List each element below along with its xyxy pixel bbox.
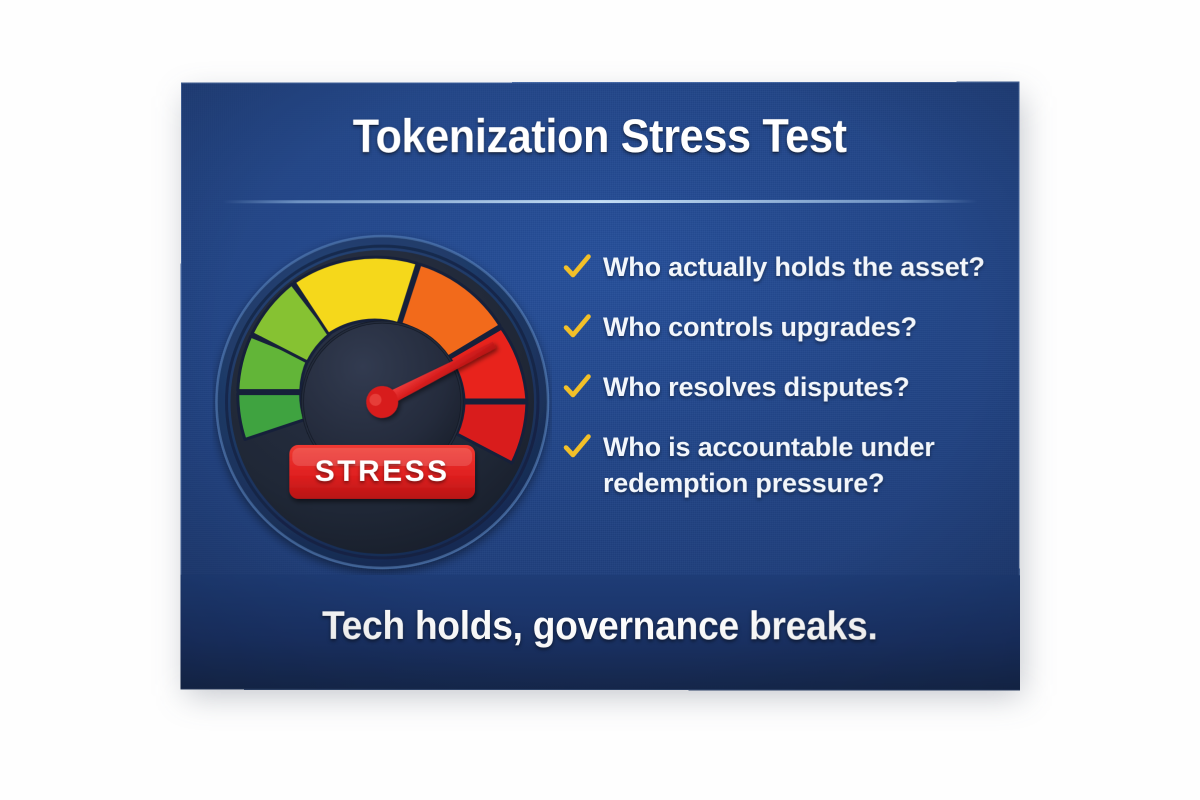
list-item-label: Who controls upgrades? [603, 309, 917, 345]
question-checklist: Who actually holds the asset? Who contro… [562, 249, 993, 501]
check-icon [562, 312, 592, 342]
title-divider [223, 200, 978, 204]
footer-band: Tech holds, governance breaks. [180, 575, 1019, 691]
check-icon [562, 432, 592, 462]
list-item: Who is accountable under redemption pres… [562, 429, 993, 501]
list-item: Who actually holds the asset? [562, 249, 992, 285]
footer-tagline: Tech holds, governance breaks. [210, 604, 991, 650]
stress-plate-label: STRESS [315, 455, 450, 489]
slide-canvas: Tokenization Stress Test [0, 0, 1200, 800]
check-icon [562, 372, 592, 402]
page-title: Tokenization Stress Test [214, 108, 986, 164]
info-card: Tokenization Stress Test [180, 82, 1019, 691]
list-item-label: Who actually holds the asset? [603, 249, 985, 285]
list-item: Who resolves disputes? [562, 369, 993, 405]
check-icon [562, 252, 592, 282]
list-item: Who controls upgrades? [562, 309, 993, 345]
stress-gauge: STRESS [212, 230, 552, 575]
list-item-label: Who resolves disputes? [603, 369, 910, 405]
list-item-label: Who is accountable under redemption pres… [603, 429, 993, 501]
